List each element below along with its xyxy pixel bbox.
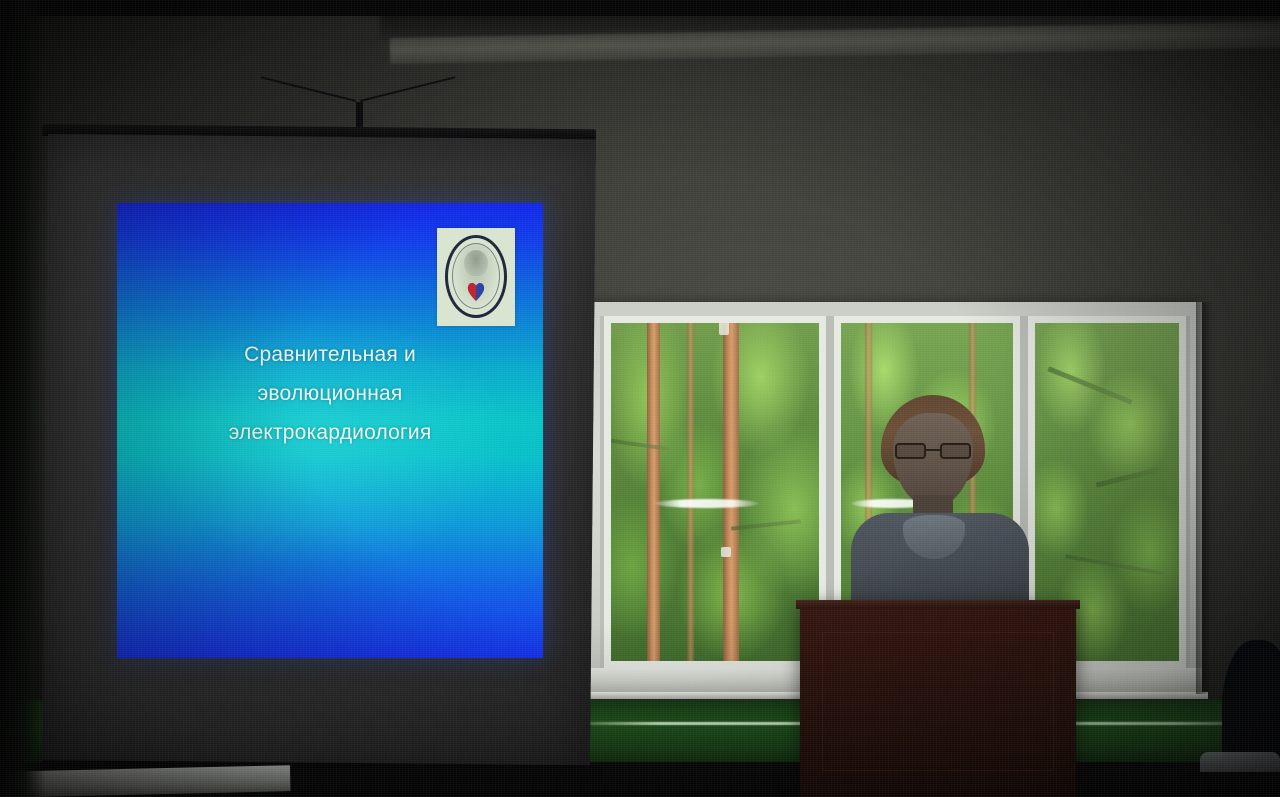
presenter-face <box>893 413 973 507</box>
left-shadow-overlay <box>0 0 46 797</box>
audience-silhouette <box>1222 640 1280 770</box>
slide-title-line-1: Сравнительная и <box>147 336 513 375</box>
screen-hanger <box>268 100 448 126</box>
slide-title-line-2: эволюционная <box>147 375 513 414</box>
ceiling-dark-edge <box>0 0 1280 16</box>
slide-title-line-3: электрокардиология <box>147 414 513 453</box>
institution-emblem-icon <box>437 228 515 326</box>
audience-shoulder <box>1200 752 1280 772</box>
lecture-hall-scene: Сравнительная и эволюционная электрокард… <box>0 0 1280 797</box>
podium-front-panel <box>822 632 1054 771</box>
glass-reflection-streak <box>655 499 759 508</box>
forest-view-left <box>611 323 819 661</box>
presenter-speaker <box>845 395 1035 635</box>
projected-slide: Сравнительная и эволюционная электрокард… <box>117 203 543 658</box>
glasses-icon <box>895 443 971 459</box>
slide-title: Сравнительная и эволюционная электрокард… <box>147 336 513 453</box>
screen-hook-icon <box>356 102 363 128</box>
window-right-shadow <box>1196 302 1212 694</box>
window-latch-left[interactable] <box>719 321 729 335</box>
heart-icon <box>466 280 486 302</box>
window-latch-left-lower[interactable] <box>721 547 731 557</box>
podium-lectern <box>800 606 1076 797</box>
window-pane-left <box>604 316 826 668</box>
podium-top-edge <box>796 600 1080 609</box>
